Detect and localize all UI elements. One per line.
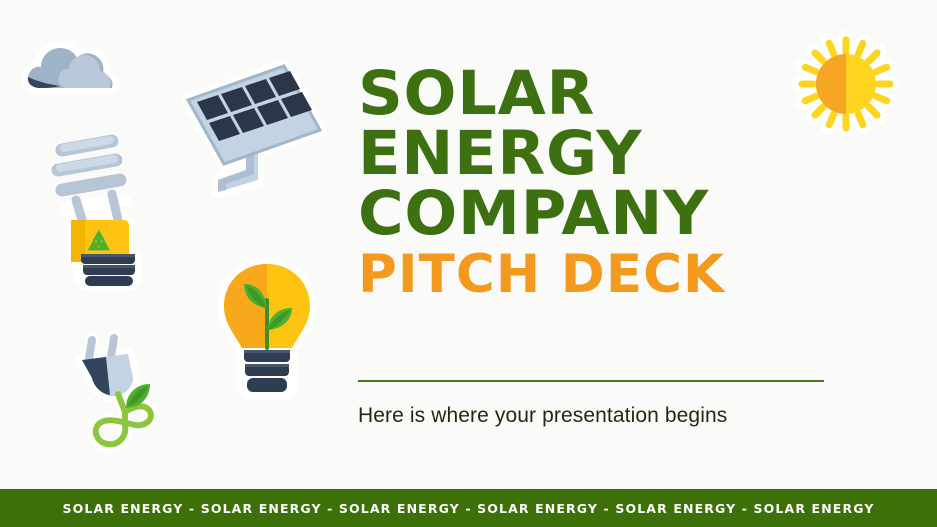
title-block: SOLAR ENERGY COMPANY PITCH DECK (358, 64, 828, 302)
power-plug-leaf-icon (62, 326, 186, 460)
solar-panel-icon (168, 52, 340, 224)
title-line-2: ENERGY (358, 124, 837, 184)
presentation-slide: SOLAR ENERGY COMPANY PITCH DECK Here is … (0, 0, 937, 527)
tagline-text: Here is where your presentation begins (358, 404, 727, 428)
cloud-icon (24, 28, 120, 104)
light-bulb-plant-icon (208, 256, 326, 408)
title-divider-rule (358, 380, 824, 382)
subtitle-pitch-deck: PITCH DECK (358, 247, 828, 302)
title-line-1: SOLAR (358, 64, 837, 124)
bottom-banner: SOLAR ENERGY - SOLAR ENERGY - SOLAR ENER… (0, 489, 937, 527)
title-line-3: COMPANY (358, 184, 837, 244)
banner-marquee-text: SOLAR ENERGY - SOLAR ENERGY - SOLAR ENER… (62, 501, 874, 516)
cfl-bulb-icon (36, 128, 158, 292)
